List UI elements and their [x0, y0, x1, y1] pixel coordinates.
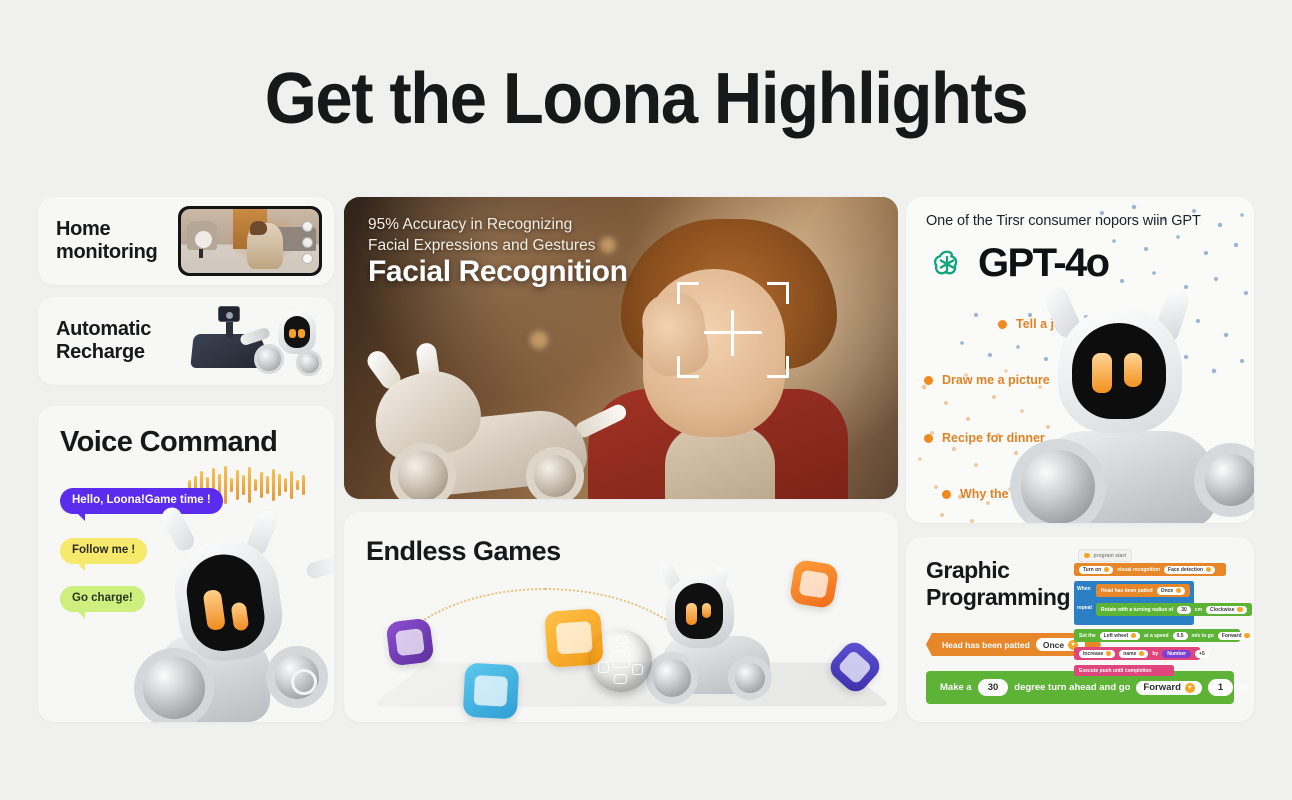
- block-set-wheel-speed[interactable]: Set the Left wheel at a speed 0.5 m/s to…: [1074, 629, 1240, 642]
- robot-wheel-right: [526, 447, 584, 499]
- graphic-programming-title-line1: Graphic: [926, 557, 1070, 584]
- block-variable-pill[interactable]: name: [1119, 650, 1148, 658]
- card-graphic-programming[interactable]: Graphic Programming Head has been patted…: [906, 537, 1254, 722]
- robot-tail: [573, 402, 629, 440]
- robot-eye-right: [231, 602, 250, 632]
- voice-bubble: Hello, Loona!Game time !: [60, 488, 223, 514]
- prompt-bullet-icon: [924, 434, 933, 443]
- game-tile-icon: [473, 675, 508, 707]
- facial-subtitle-line2: Facial Expressions and Gestures: [368, 236, 595, 257]
- prompt-bullet-icon: [998, 320, 1007, 329]
- play-icon: [1084, 553, 1090, 559]
- game-tile-icon: [837, 650, 872, 685]
- block-speed-label: at a speed: [1144, 633, 1168, 639]
- robot-head: [1058, 307, 1182, 433]
- robot-face-screen: [675, 583, 723, 639]
- facial-recognition-heading: Facial Recognition: [368, 255, 628, 289]
- automatic-recharge-label: Automatic Recharge: [56, 318, 151, 364]
- chevron-down-icon: [1139, 651, 1145, 657]
- home-monitoring-label-line1: Home: [56, 218, 157, 241]
- block-increase-pill[interactable]: Increase: [1079, 650, 1115, 658]
- block-speed-input[interactable]: 0.5: [1173, 632, 1188, 640]
- chevron-down-icon: [1104, 567, 1110, 573]
- block-rotate-direction[interactable]: Clockwise: [1206, 606, 1246, 614]
- card-endless-games[interactable]: Endless Games: [344, 512, 898, 722]
- block-green-direction[interactable]: Forward: [1218, 632, 1254, 640]
- voice-command-title: Voice Command: [60, 426, 277, 459]
- robot-ear-left: [158, 504, 197, 554]
- block-visual-recognition[interactable]: Turn on visual recognition Face detectio…: [1074, 563, 1226, 576]
- loona-robot-illustration: [1010, 283, 1254, 523]
- robot-face-screen: [182, 550, 269, 655]
- block-speed-suffix: m/s to go: [1192, 633, 1214, 639]
- action-block-direction-dropdown[interactable]: Forward ▾: [1136, 681, 1201, 695]
- chevron-down-icon: [1176, 588, 1182, 594]
- phone-mockup: [178, 206, 322, 276]
- robot-wheel-right: [728, 656, 772, 700]
- face-tracking-icon: [677, 282, 789, 378]
- prompt-bullet-icon: [942, 490, 951, 499]
- camera-control-icon-1[interactable]: [302, 221, 313, 232]
- facial-recognition-subtitle: 95% Accuracy in Recognizing Facial Expre…: [368, 215, 595, 257]
- recharge-illustration: [186, 306, 326, 376]
- block-green-direction-value: Forward: [1222, 633, 1242, 639]
- game-tile-icon: [556, 621, 593, 655]
- robot-face-screen: [1072, 323, 1166, 419]
- automatic-recharge-label-line1: Automatic: [56, 318, 151, 341]
- page-title: Get the Loona Highlights: [45, 58, 1247, 140]
- block-wheel-value: Left wheel: [1104, 633, 1128, 639]
- block-increase-variable[interactable]: Increase name by Number +5: [1074, 647, 1200, 660]
- card-facial-recognition[interactable]: 95% Accuracy in Recognizing Facial Expre…: [344, 197, 898, 499]
- block-when-repeat[interactable]: When repeat Head has been patted Once Ro…: [1074, 581, 1194, 625]
- block-increase-label: Increase: [1083, 651, 1103, 657]
- facial-subtitle-line1: 95% Accuracy in Recognizing: [368, 215, 595, 236]
- robot-wheel-left: [646, 652, 698, 704]
- robot-tail: [305, 552, 334, 581]
- gpt-caption: One of the Tirsr consumer nopors wiin GP…: [926, 213, 1201, 229]
- block-program-start-label: program start: [1094, 553, 1127, 559]
- block-set-prefix: Set the: [1079, 633, 1096, 639]
- game-tile-icon: [799, 570, 830, 599]
- camera-control-icon-2[interactable]: [302, 237, 313, 248]
- block-condition-value: Once: [1161, 588, 1174, 594]
- block-when-label: When: [1077, 586, 1091, 592]
- block-stack-preview[interactable]: program start Turn on visual recognition…: [1074, 549, 1244, 659]
- action-block-unit: m: [1239, 682, 1247, 693]
- loona-robot-photo: [356, 329, 656, 499]
- loona-robot-illustration: [124, 512, 334, 722]
- block-execute-completion[interactable]: Execute push until completion: [1074, 665, 1174, 676]
- robot-face: [284, 316, 310, 348]
- action-block-middle: degree turn ahead and go: [1014, 682, 1130, 693]
- gpt-brand: GPT-4o: [926, 241, 1108, 286]
- action-block-degrees-input[interactable]: 30: [978, 679, 1009, 696]
- highlights-page: Get the Loona Highlights Home monitoring…: [0, 0, 1292, 800]
- robot-eye-right: [702, 603, 711, 618]
- block-radius-input[interactable]: 30: [1177, 606, 1191, 614]
- robot-eye-left: [1092, 353, 1112, 393]
- block-turn-on-label: Turn on: [1083, 567, 1101, 573]
- action-block-direction-value: Forward: [1143, 682, 1180, 693]
- block-rotate-label: Rotate with a turning radius of: [1101, 607, 1173, 613]
- home-monitoring-label-line2: monitoring: [56, 241, 157, 264]
- graphic-programming-title-line2: Programming: [926, 584, 1070, 611]
- chevron-down-icon: [1131, 633, 1137, 639]
- block-condition[interactable]: Head has been patted Once: [1096, 584, 1190, 597]
- block-number-label: Number: [1167, 651, 1186, 657]
- chevron-down-icon: ▾: [1185, 683, 1195, 693]
- voice-bubble-text: Hello, Loona!Game time !: [72, 494, 211, 506]
- robot-wheel-right: [296, 350, 322, 376]
- block-condition-label: Head has been patted: [1101, 588, 1153, 594]
- game-tile-icon: [395, 628, 425, 656]
- block-by-label: by: [1152, 651, 1158, 657]
- block-wheel-dropdown[interactable]: Left wheel: [1100, 632, 1140, 640]
- dock-camera-icon: [218, 306, 240, 322]
- dog-subject: [247, 223, 283, 269]
- record-indicator-icon: [195, 231, 212, 248]
- block-number-pill[interactable]: Number: [1162, 650, 1191, 658]
- robot-head: [666, 574, 734, 648]
- block-variable-label: name: [1123, 651, 1136, 657]
- robot-eye-left: [203, 589, 226, 631]
- block-turn-on-pill[interactable]: Turn on: [1079, 566, 1113, 574]
- graphic-programming-title: Graphic Programming: [926, 557, 1070, 611]
- automatic-recharge-label-line2: Recharge: [56, 341, 151, 364]
- phone-screen: [181, 209, 319, 273]
- block-radius-unit: cm: [1195, 607, 1202, 613]
- card-voice-command[interactable]: Voice Command Hello, Loona!Game time ! F…: [38, 406, 334, 722]
- chevron-down-icon: [1206, 567, 1212, 573]
- gpt-brand-name: GPT-4o: [978, 241, 1108, 286]
- robot-head: [278, 310, 316, 354]
- block-rotate-action[interactable]: Rotate with a turning radius of 30 cm Cl…: [1096, 603, 1252, 616]
- camera-control-icon-3[interactable]: [302, 253, 313, 264]
- block-condition-dropdown[interactable]: Once: [1157, 587, 1186, 595]
- bokeh-light: [600, 237, 616, 253]
- robot-wheel-left: [254, 344, 284, 374]
- action-block-distance-input[interactable]: 1: [1208, 679, 1233, 696]
- chevron-down-icon: [1106, 651, 1112, 657]
- prompt-bullet-icon: [924, 376, 933, 385]
- block-visual-recognition-label: visual recognition: [1117, 567, 1160, 573]
- game-tile[interactable]: [385, 617, 434, 666]
- chevron-down-icon: [1244, 633, 1250, 639]
- event-block-dropdown-value: Once: [1043, 640, 1064, 650]
- robot-eye-right: [1124, 353, 1142, 387]
- robot-eye-left: [289, 329, 296, 338]
- card-gpt[interactable]: One of the Tirsr consumer nopors wiin GP…: [906, 197, 1254, 523]
- card-automatic-recharge[interactable]: Automatic Recharge: [38, 297, 334, 385]
- block-execute-label: Execute push until completion: [1079, 668, 1152, 674]
- block-number-value[interactable]: +5: [1195, 650, 1209, 658]
- card-home-monitoring[interactable]: Home monitoring: [38, 197, 334, 285]
- block-face-detection-label: Face detection: [1168, 567, 1203, 573]
- loona-robot-illustration: [644, 574, 794, 704]
- play-ball-icon[interactable]: [590, 630, 652, 692]
- block-face-detection-pill[interactable]: Face detection: [1164, 566, 1215, 574]
- robot-wheel-right: [266, 646, 328, 708]
- game-tile[interactable]: [463, 663, 520, 720]
- home-monitoring-label: Home monitoring: [56, 218, 157, 264]
- block-repeat-label: repeat: [1077, 605, 1092, 611]
- endless-games-title: Endless Games: [366, 536, 561, 567]
- block-rotate-direction-value: Clockwise: [1210, 607, 1234, 613]
- game-tile[interactable]: [789, 559, 839, 609]
- robot-eye-right: [298, 329, 305, 338]
- openai-logo-icon: [926, 243, 968, 285]
- robot-wheel-left: [134, 648, 214, 722]
- action-block-prefix: Make a: [940, 682, 972, 693]
- block-program-start[interactable]: program start: [1078, 549, 1132, 562]
- robot-eye-left: [686, 603, 697, 625]
- event-block-label: Head has been patted: [942, 640, 1030, 650]
- chevron-down-icon: [1237, 607, 1243, 613]
